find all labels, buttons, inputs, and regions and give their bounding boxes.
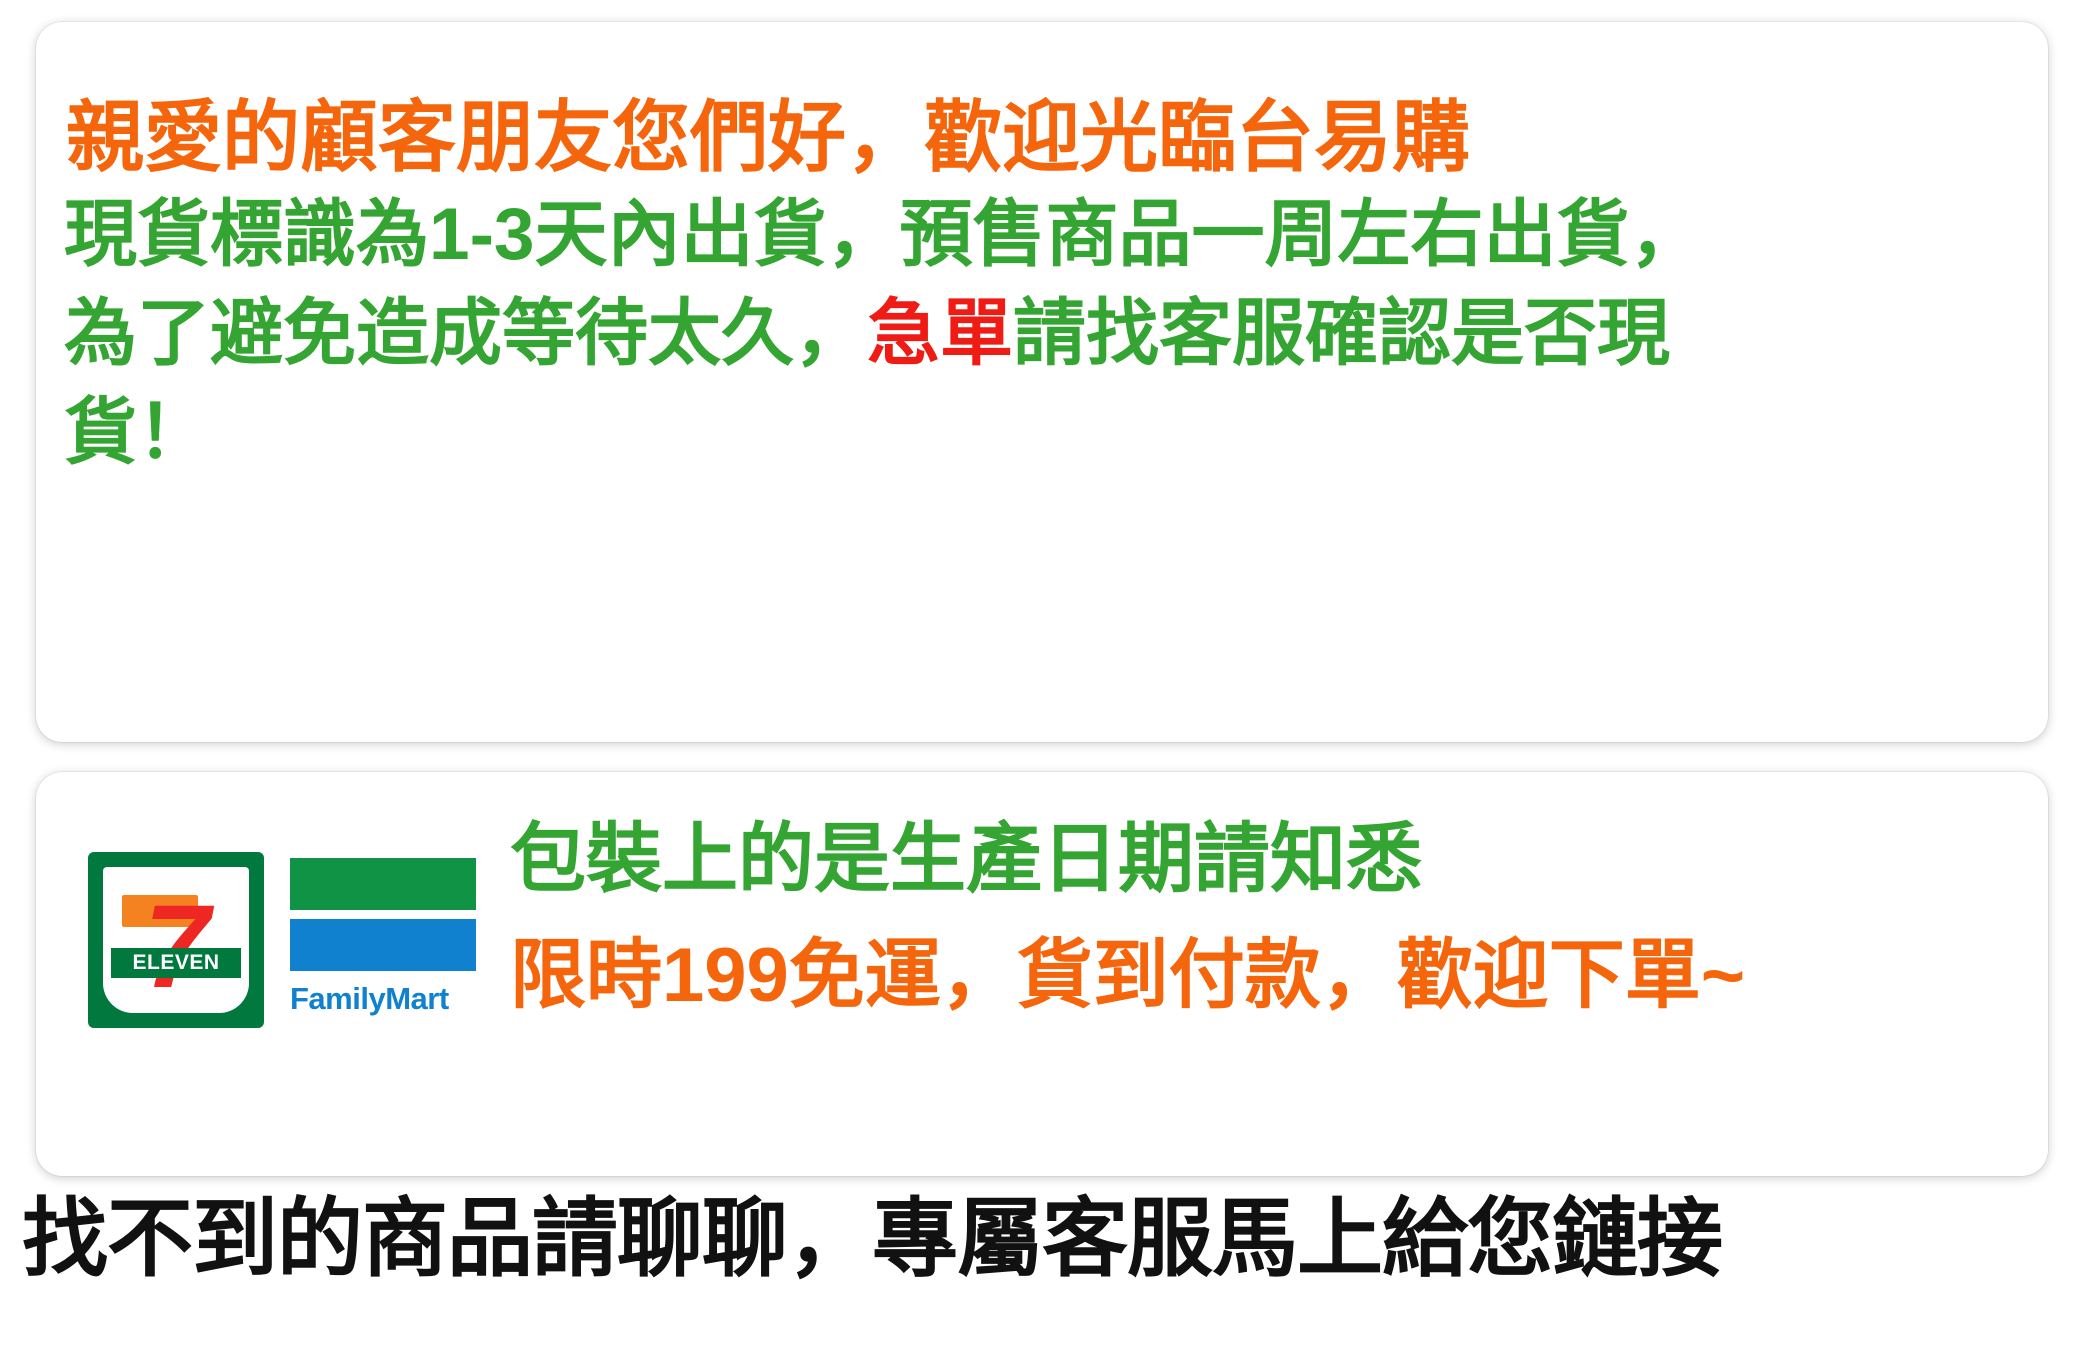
promo-banner-page: 親愛的顧客朋友您們好，歡迎光臨台易購 現貨標識為1-3天內出貨，預售商品一周左右… [0,0,2083,1350]
notice-card: 親愛的顧客朋友您們好，歡迎光臨台易購 現貨標識為1-3天內出貨，預售商品一周左右… [36,22,2048,742]
urgent-order-emphasis: 急單 [867,293,1013,374]
urgent-order-line: 為了避免造成等待太久，急單請找客服確認是否現 [64,297,2028,370]
shipping-text-group: 包裝上的是生產日期請知悉 限時199免運，貨到付款，歡迎下單~ [510,818,2024,1014]
familymart-logo-icon: FamilyMart [290,852,476,1017]
seven-eleven-wordmark: ELEVEN [132,951,219,975]
seven-eleven-logo-icon: 7 ELEVEN [88,852,264,1028]
welcome-headline: 親愛的顧客朋友您們好，歡迎光臨台易購 [66,98,2028,176]
stock-confirm-line: 貨！ [64,396,2028,469]
familymart-wordmark: FamilyMart [290,981,476,1017]
store-logo-group: 7 ELEVEN FamilyMart [88,818,476,1028]
shipping-time-line: 現貨標識為1-3天內出貨，預售商品一周左右出貨， [64,198,2028,271]
notice-card-body: 親愛的顧客朋友您們好，歡迎光臨台易購 現貨標識為1-3天內出貨，預售商品一周左右… [60,98,2028,469]
free-shipping-note: 限時199免運，貨到付款，歡迎下單~ [510,938,2024,1014]
urgent-order-suffix: 請找客服確認是否現 [1013,293,1670,374]
shipping-card: 7 ELEVEN FamilyMart 包裝上的是生產日期請知悉 限時199免運… [36,772,2048,1176]
seven-eleven-wordmark-band: ELEVEN [111,948,241,978]
production-date-note: 包裝上的是生產日期請知悉 [510,822,2024,898]
footer-contact-line: 找不到的商品請聊聊，專屬客服馬上給您鏈接 [22,1196,2062,1282]
familymart-green-bar [290,858,476,910]
urgent-order-prefix: 為了避免造成等待太久， [64,293,867,374]
shipping-card-body: 7 ELEVEN FamilyMart 包裝上的是生產日期請知悉 限時199免運… [88,818,2024,1152]
familymart-blue-bar [290,919,476,971]
